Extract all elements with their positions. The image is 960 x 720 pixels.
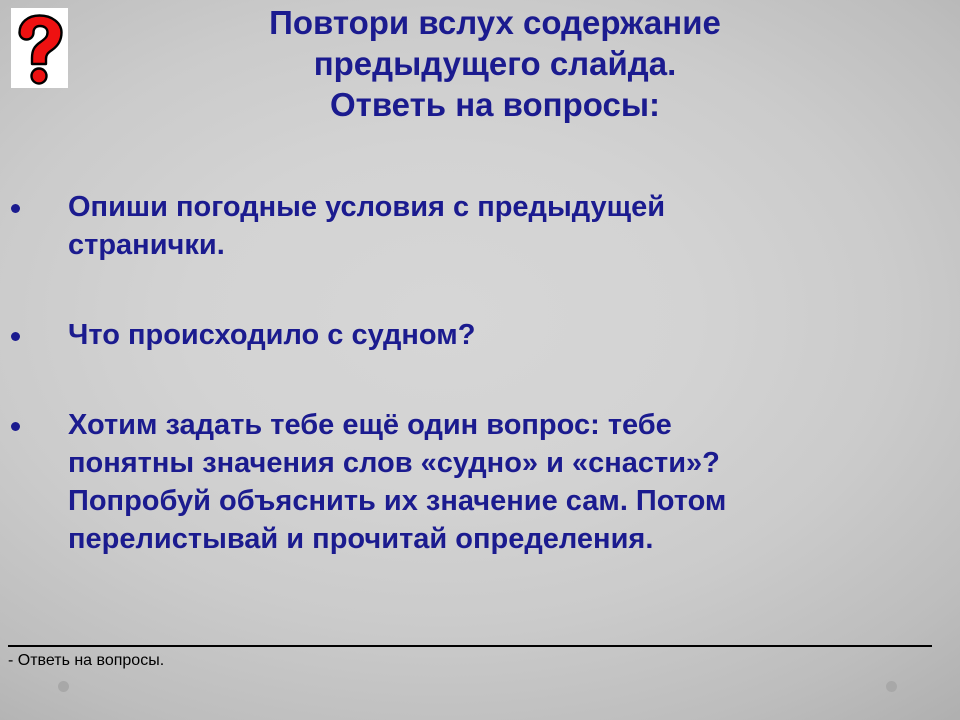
question-list: Опиши погодные условия с предыдущей стра…	[0, 188, 960, 558]
footer-note: - Ответь на вопросы.	[8, 650, 164, 672]
list-item-text: Опиши погодные условия с предыдущей стра…	[68, 191, 665, 261]
list-item: Опиши погодные условия с предыдущей стра…	[0, 188, 960, 264]
list-item: Хотим задать тебе ещё один вопрос: тебе …	[0, 406, 960, 558]
list-item-text: Хотим задать тебе ещё один вопрос: тебе …	[68, 409, 726, 555]
page-title: Повтори вслух содержание предыдущего сла…	[100, 2, 890, 125]
title-line-2: предыдущего слайда.	[100, 43, 890, 84]
footer-dot-right-icon	[886, 681, 897, 692]
list-item-text: Что происходило с судном?	[68, 319, 475, 351]
bullet-marker-icon	[11, 204, 20, 213]
list-item: Что происходило с судном?	[0, 316, 960, 354]
bullet-marker-icon	[11, 332, 20, 341]
footer-divider	[8, 645, 932, 647]
title-line-1: Повтори вслух содержание	[100, 2, 890, 43]
bullet-marker-icon	[11, 422, 20, 431]
question-mark-icon	[11, 8, 68, 88]
title-line-3: Ответь на вопросы:	[100, 84, 890, 125]
footer-dot-left-icon	[58, 681, 69, 692]
question-mark-glyph	[11, 8, 68, 88]
slide-canvas: Повтори вслух содержание предыдущего сла…	[0, 0, 960, 720]
